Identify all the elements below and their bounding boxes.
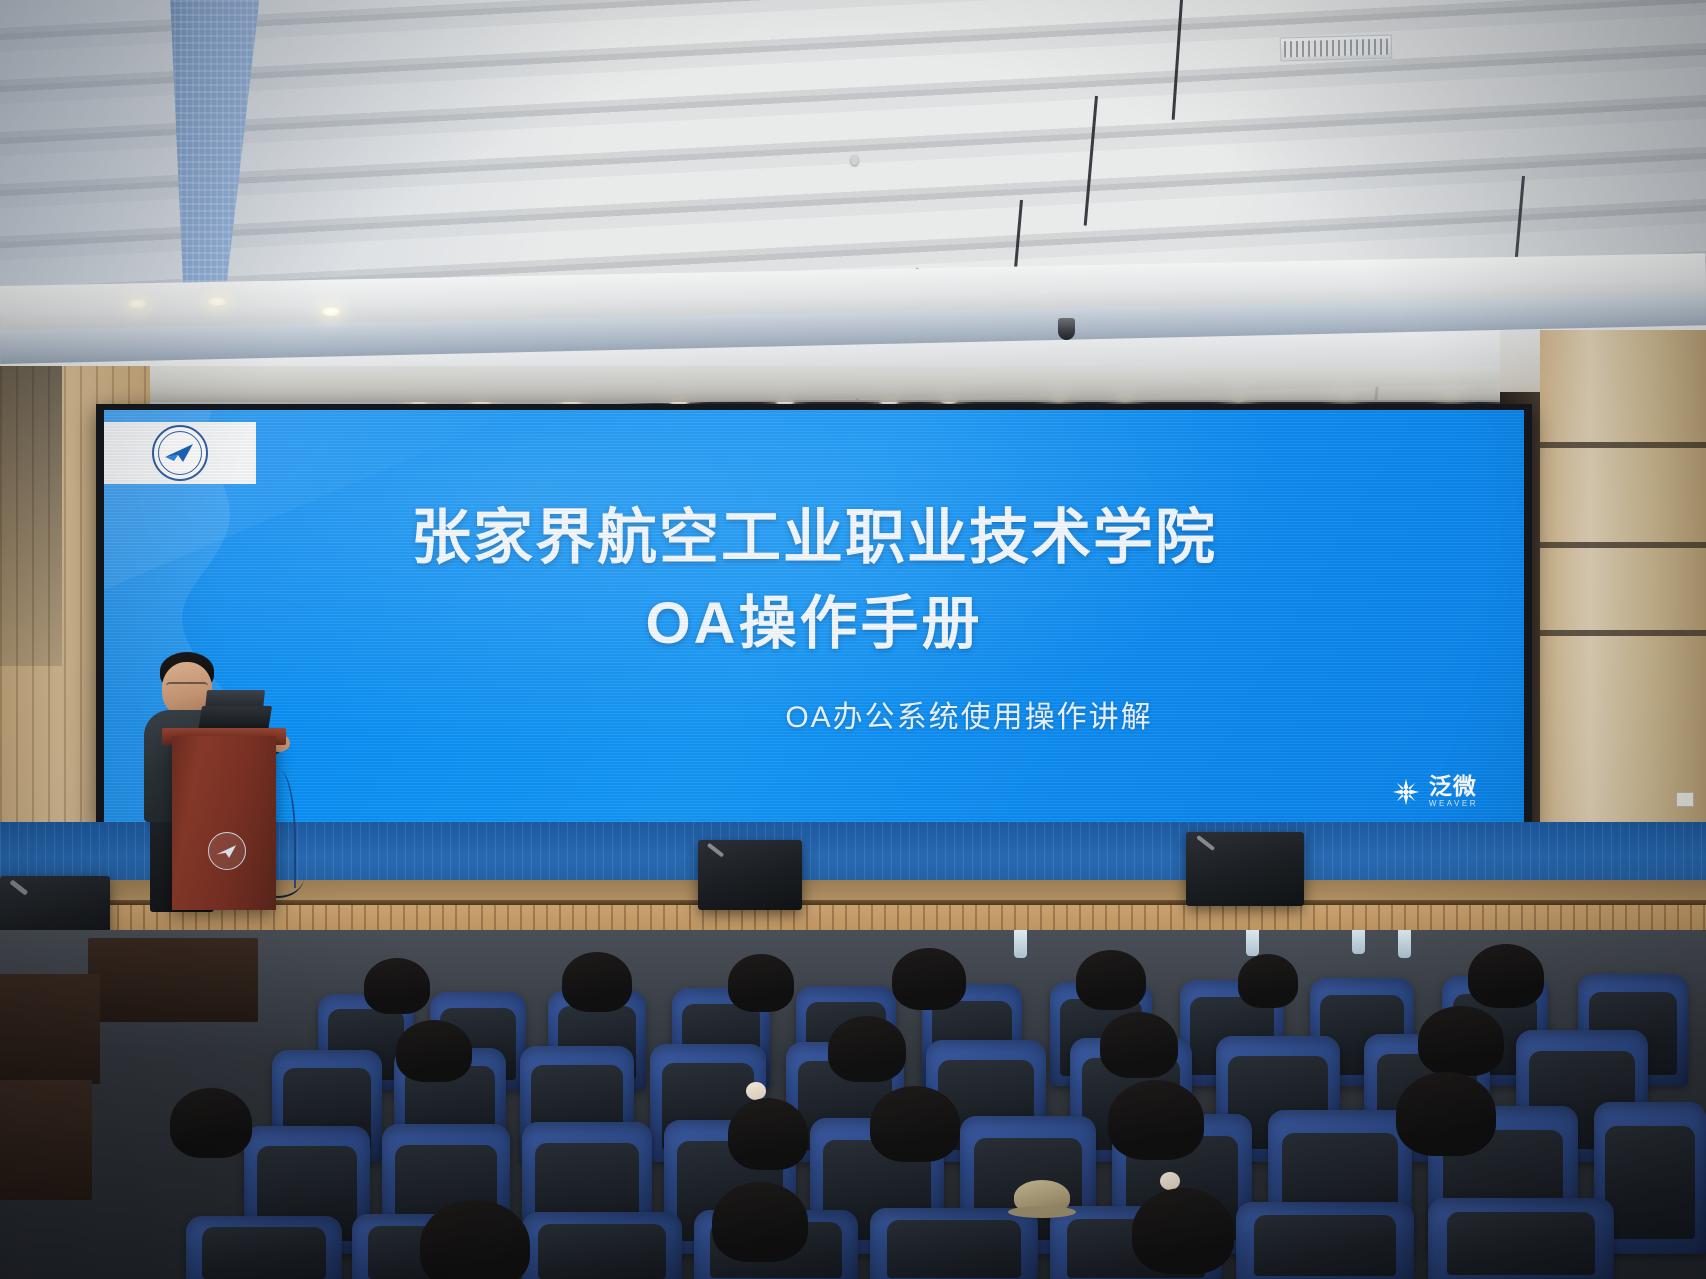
- attendee-head: [1076, 950, 1146, 1010]
- attendee-head: [892, 948, 966, 1010]
- water-bottle: [1246, 930, 1259, 956]
- weaver-logo-en: WEAVER: [1429, 800, 1478, 808]
- weaver-starburst-icon: [1391, 777, 1421, 807]
- water-bottle: [1014, 930, 1027, 958]
- attendee-head: [728, 1098, 808, 1170]
- attendee-cap: [1014, 1180, 1070, 1214]
- side-desk: [88, 938, 258, 1022]
- water-bottle: [1352, 930, 1365, 954]
- attendee-head: [712, 1182, 808, 1262]
- aircraft-arrow-icon: [215, 843, 239, 860]
- school-emblem-icon: [152, 425, 208, 481]
- attendee-head: [1396, 1072, 1496, 1156]
- air-vent: [1280, 35, 1393, 62]
- seat[interactable]: [1428, 1198, 1614, 1279]
- attendee-head: [1132, 1188, 1234, 1274]
- side-desk: [0, 1080, 92, 1200]
- slide-title-line2: OA操作手册: [104, 576, 1524, 660]
- attendee-head: [1468, 944, 1544, 1008]
- dome-camera: [1058, 318, 1075, 340]
- downlight: [206, 296, 228, 307]
- podium: [172, 736, 276, 910]
- weaver-logo-cn: 泛微: [1429, 775, 1478, 798]
- attendee-head: [870, 1086, 960, 1162]
- led-screen: 张家界航空工业职业技术学院 OA操作手册 OA办公系统使用操作讲解: [104, 410, 1524, 822]
- attendee-head: [420, 1200, 530, 1279]
- attendee-head: [364, 958, 430, 1014]
- downlight: [320, 306, 342, 317]
- weaver-logo: 泛微 WEAVER: [1391, 775, 1478, 808]
- attendee-head: [1238, 954, 1298, 1008]
- seat[interactable]: [522, 1212, 682, 1279]
- attendee-head: [1418, 1006, 1504, 1076]
- school-logo-plate: [104, 422, 256, 484]
- photo-scene: 张家界航空工业职业技术学院 OA操作手册 OA办公系统使用操作讲解: [0, 0, 1706, 1279]
- smoke-detector: [851, 155, 858, 165]
- wall-switch-plate[interactable]: [1676, 792, 1694, 807]
- seat[interactable]: [870, 1208, 1038, 1279]
- downlight: [126, 298, 148, 309]
- side-desk: [0, 974, 100, 1084]
- attendee-head: [396, 1020, 472, 1082]
- attendee-head: [1100, 1012, 1178, 1078]
- attendee-head: [170, 1088, 252, 1158]
- attendee-head: [828, 1016, 906, 1082]
- attendee-head: [1108, 1080, 1204, 1160]
- seat[interactable]: [1236, 1202, 1414, 1279]
- weaver-logo-text: 泛微 WEAVER: [1429, 775, 1478, 808]
- seat[interactable]: [186, 1216, 342, 1279]
- attendee-head: [562, 952, 632, 1012]
- audience-area: [0, 930, 1706, 1279]
- left-wall-shadow: [0, 366, 62, 666]
- water-bottle: [1398, 930, 1411, 958]
- aircraft-arrow-icon: [163, 441, 197, 465]
- slide-subtitle: OA办公系统使用操作讲解: [104, 692, 1524, 736]
- upper-wall-band: [0, 366, 1706, 402]
- stage-speaker-monitor: [1186, 832, 1304, 906]
- presenter-glasses: [166, 682, 208, 693]
- stage-speaker-monitor: [698, 840, 802, 910]
- slide-title-line1: 张家界航空工业职业技术学院: [104, 506, 1524, 570]
- attendee-head: [728, 954, 794, 1012]
- podium-emblem-icon: [208, 832, 246, 870]
